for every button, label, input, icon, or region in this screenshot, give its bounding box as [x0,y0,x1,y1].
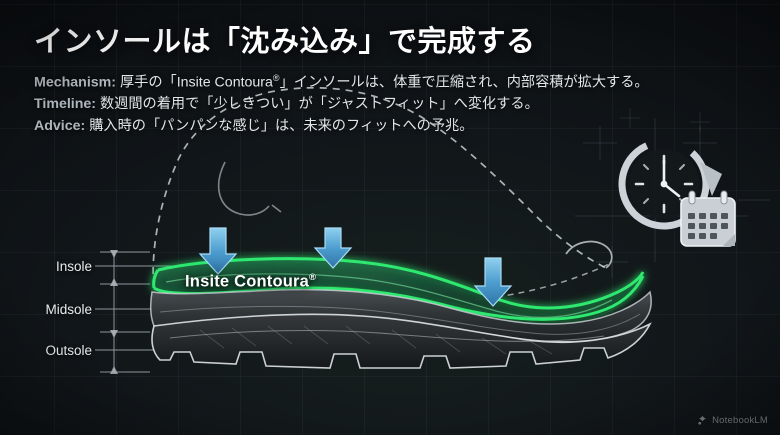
layer-label-outsole: Outsole [0,343,92,358]
insole-product-label: Insite Contoura® [185,272,316,292]
notebooklm-watermark: NotebookLM [697,415,768,426]
layer-label-insole: Insole [8,259,92,274]
notebooklm-logo-icon [697,415,708,426]
calendar-icon [681,191,735,246]
insole-product-name: Insite Contoura [185,273,309,291]
shoe-cross-section [0,0,780,435]
layer-label-midsole: Midsole [0,302,92,317]
shoe-collar-curve [219,162,281,215]
registered-mark-icon: ® [309,272,316,283]
shoe-heel-tab [566,242,612,268]
slide-canvas: インソールは「沈み込み」で完成する Mechanism: 厚手の「Insite … [0,0,780,435]
watermark-label: NotebookLM [712,415,768,426]
